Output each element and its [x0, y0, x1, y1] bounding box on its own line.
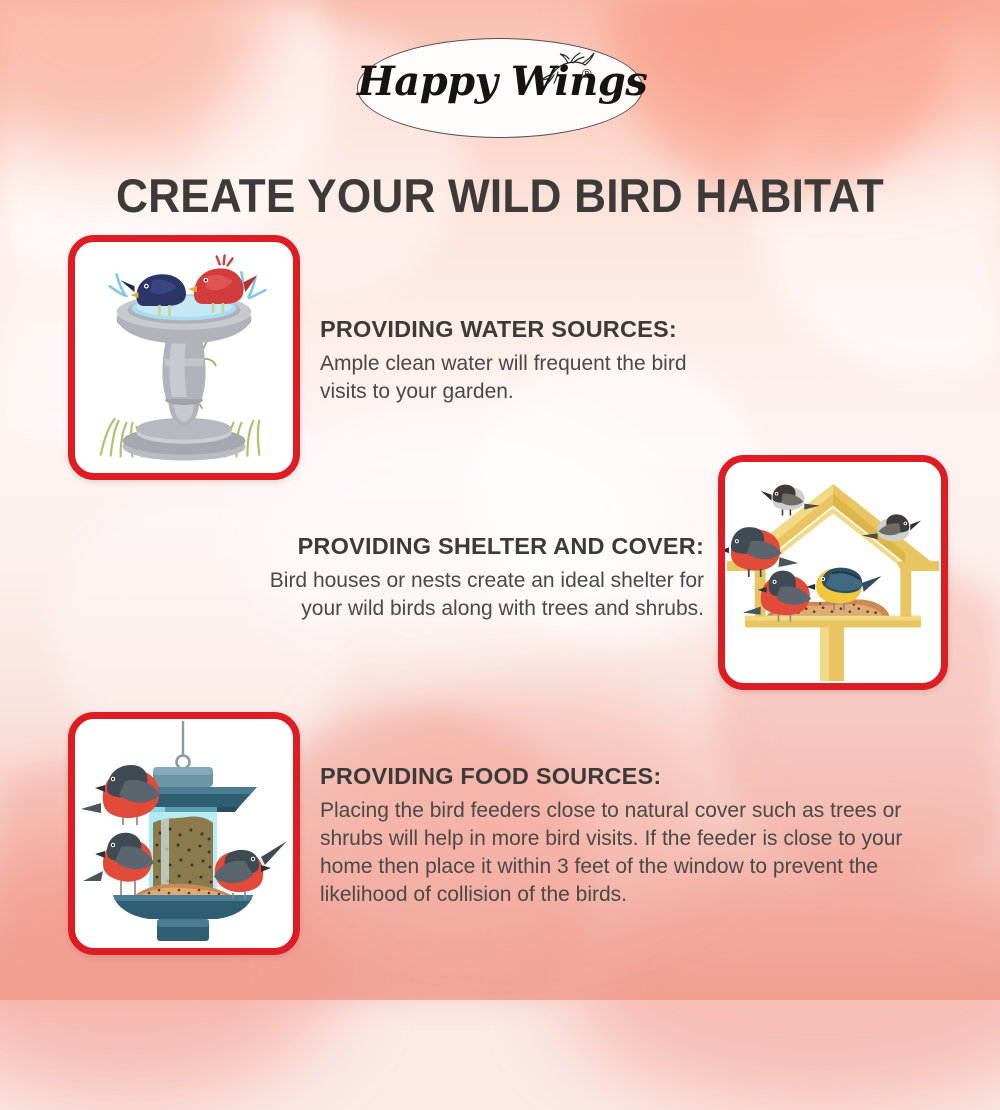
registered-trademark-icon: ®: [582, 66, 592, 81]
section-body-food: Placing the bird feeders close to natura…: [320, 797, 954, 909]
section-water: PROVIDING WATER SOURCES: Ample clean wat…: [320, 316, 720, 406]
page-title: CREATE YOUR WILD BIRD HABITAT: [30, 168, 970, 223]
bird-house-feeder-illustration: [718, 455, 948, 690]
section-food: PROVIDING FOOD SOURCES: Placing the bird…: [320, 763, 954, 909]
logo-wordmark: Happy Wings: [357, 58, 643, 105]
bird-bath-illustration: [68, 235, 300, 480]
section-heading-water: PROVIDING WATER SOURCES:: [320, 316, 720, 343]
section-shelter: PROVIDING SHELTER AND COVER: Bird houses…: [248, 533, 704, 623]
brand-logo[interactable]: Happy Wings ®: [357, 38, 643, 138]
section-body-shelter: Bird houses or nests create an ideal she…: [248, 567, 704, 623]
section-heading-food: PROVIDING FOOD SOURCES:: [320, 763, 954, 790]
section-heading-shelter: PROVIDING SHELTER AND COVER:: [248, 533, 704, 560]
section-body-water: Ample clean water will frequent the bird…: [320, 350, 720, 406]
hanging-tube-feeder-illustration: [68, 712, 300, 955]
